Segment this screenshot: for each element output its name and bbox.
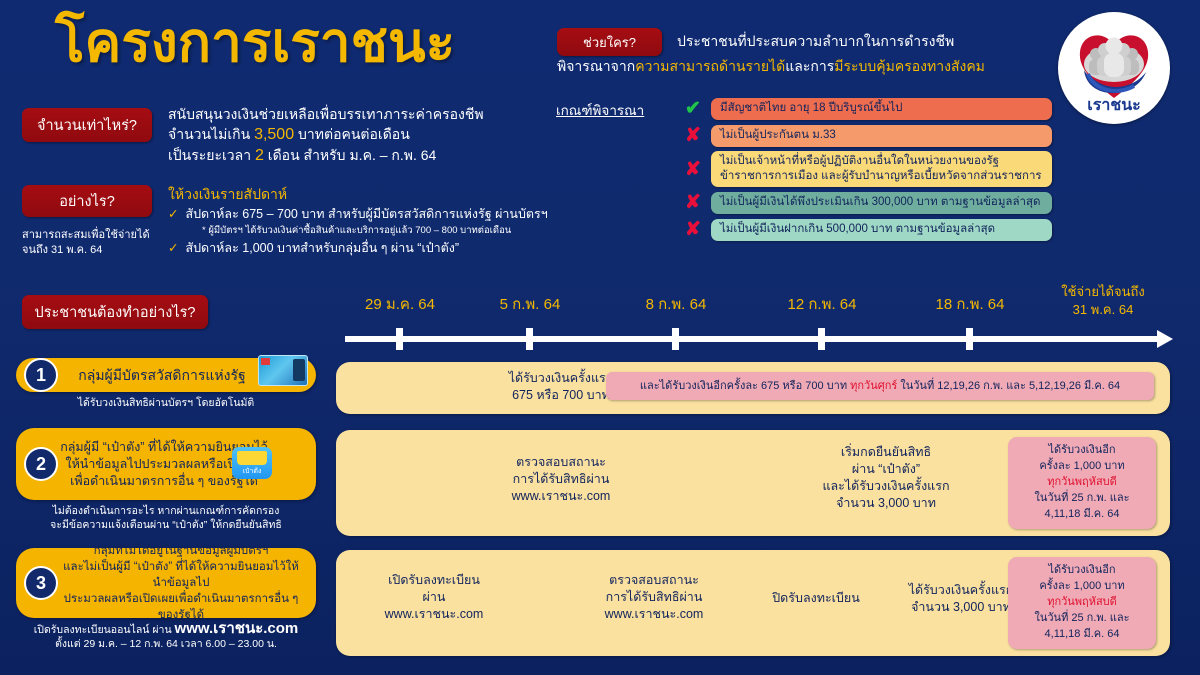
cross-icon: ✘ <box>682 158 704 181</box>
row-3-pink-line-1: ได้รับวงเงินอีก <box>1008 562 1156 578</box>
criteria-row-1: ✔ มีสัญชาติไทย อายุ 18 ปีบริบูรณ์ขึ้นไป <box>682 97 1052 120</box>
timeline-date-1: 29 ม.ค. 64 <box>325 292 475 316</box>
timeline-tick-3 <box>672 328 679 350</box>
row-3-cell-1-line-2: ผ่าน <box>344 589 524 606</box>
state-welfare-card-icon <box>258 355 308 386</box>
row-2-pink-line-4: ในวันที่ 25 ก.พ. และ <box>1008 490 1156 506</box>
timeline-date-4: 12 ก.พ. 64 <box>747 292 897 316</box>
timeline-axis <box>345 336 1165 342</box>
how-bullet-2: สัปดาห์ละ 1,000 บาทสำหรับกลุ่มอื่น ๆ ผ่า… <box>185 239 459 257</box>
group-3-card: กลุ่มที่ไม่ได้อยู่ในฐานข้อมูลผู้มีบัตรฯ … <box>16 548 316 618</box>
timeline-arrow-icon <box>1157 330 1173 348</box>
row-3-cell-2: ตรวจสอบสถานะ การได้รับสิทธิผ่าน www.เราช… <box>564 572 744 623</box>
amount-value: 3,500 <box>254 126 294 143</box>
group-3-subnote-line-2: ตั้งแต่ 29 ม.ค. – 12 ก.พ. 64 เวลา 6.00 –… <box>10 637 322 651</box>
timeline-tick-1 <box>396 328 403 350</box>
group-1-subnote: ได้รับวงเงินสิทธิผ่านบัตรฯ โดยอัตโนมัติ <box>16 396 316 410</box>
who-line2-highlight-1: ความสามารถด้านรายได้ <box>635 58 785 74</box>
row-2-cell-2-line-1: เริ่มกดยืนยันสิทธิ <box>776 444 996 461</box>
timeline-tick-4 <box>818 328 825 350</box>
how-bullet-2-row: ✓ สัปดาห์ละ 1,000 บาทสำหรับกลุ่มอื่น ๆ ผ… <box>168 239 568 257</box>
who-line-2: พิจารณาจากความสามารถด้านรายได้และการมีระ… <box>557 55 1097 77</box>
row-3-pink-line-2: ครั้งละ 1,000 บาท <box>1008 578 1156 594</box>
row-1-panel: ได้รับวงเงินครั้งแรก 675 หรือ 700 บาท แล… <box>336 362 1170 414</box>
row-3-pink-line-4: ในวันที่ 25 ก.พ. และ <box>1008 610 1156 626</box>
tag-how: อย่างไร? <box>22 185 152 217</box>
check-icon: ✓ <box>168 205 178 223</box>
row-3-pink-line-5: 4,11,18 มี.ค. 64 <box>1008 626 1156 642</box>
row-2-cell-2-line-2: ผ่าน “เป๋าตัง” <box>776 461 996 478</box>
amount-line2-post: บาทต่อคนต่อเดือน <box>298 126 410 142</box>
row-3-cell-2-line-1: ตรวจสอบสถานะ <box>564 572 744 589</box>
criteria-label: เกณฑ์พิจารณา <box>556 99 644 121</box>
group-3-subnote-line-1: เปิดรับลงทะเบียนออนไลน์ ผ่าน www.เราชนะ.… <box>10 622 322 637</box>
row-2-cell-1: ตรวจสอบสถานะ การได้รับสิทธิผ่าน www.เราช… <box>446 454 676 505</box>
row-1-pink-strip: และได้รับวงเงินอีกครั้งละ 675 หรือ 700 บ… <box>606 372 1154 400</box>
cross-icon: ✘ <box>682 124 704 147</box>
tag-how-much: จำนวนเท่าไหร่? <box>22 108 152 142</box>
how-bullet-1: สัปดาห์ละ 675 – 700 บาท สำหรับผู้มีบัตรส… <box>185 205 547 223</box>
row-2-pink-line-1: ได้รับวงเงินอีก <box>1008 442 1156 458</box>
timeline-end-line-1: ใช้จ่ายได้จนถึง <box>1038 283 1168 301</box>
row-1-strip-highlight: ทุกวันศุกร์ <box>850 380 897 392</box>
infographic-canvas: โครงการเราชนะ เราชนะ จำนวนเท่าไหร่? สนับ… <box>0 0 1200 675</box>
how-bullet-1-row: ✓ สัปดาห์ละ 675 – 700 บาท สำหรับผู้มีบัต… <box>168 205 568 223</box>
row-2-pink-highlight: ทุกวันพฤหัสบดี <box>1008 474 1156 490</box>
amount-line-3: เป็นระยะเวลา 2 เดือน สำหรับ ม.ค. – ก.พ. … <box>168 145 558 166</box>
amount-line3-post: เดือน สำหรับ ม.ค. – ก.พ. 64 <box>268 147 437 163</box>
row-3-cell-1-line-1: เปิดรับลงทะเบียน <box>344 572 524 589</box>
tag-who: ช่วยใคร? <box>557 28 662 56</box>
how-note-line-1: สามารถสะสมเพื่อใช้จ่ายได้ <box>22 228 172 243</box>
amount-line2-pre: จำนวนไม่เกิน <box>168 126 250 142</box>
row-3-cell-3: ปิดรับลงทะเบียน <box>736 590 896 607</box>
row-2-cell-2: เริ่มกดยืนยันสิทธิ ผ่าน “เป๋าตัง” และได้… <box>776 444 996 512</box>
who-line-1: ประชาชนที่ประสบความลำบากในการดำรงชีพ <box>677 30 1097 52</box>
group-3-title: กลุ่มที่ไม่ได้อยู่ในฐานข้อมูลผู้มีบัตรฯ … <box>60 543 306 623</box>
group-2-subnote: ไม่ต้องดำเนินการอะไร หากผ่านเกณฑ์การคัดก… <box>10 504 322 532</box>
criteria-text-5: ไม่เป็นผู้มีเงินฝากเกิน 500,000 บาท ตามฐ… <box>711 219 1052 241</box>
row-2-panel: ตรวจสอบสถานะ การได้รับสิทธิผ่าน www.เราช… <box>336 430 1170 536</box>
criteria-text-2: ไม่เป็นผู้ประกันตน ม.33 <box>711 125 1052 147</box>
timeline-date-3: 8 ก.พ. 64 <box>601 292 751 316</box>
row-2-cell-1-line-2: การได้รับสิทธิผ่าน <box>446 471 676 488</box>
group-3-subnote-pre: เปิดรับลงทะเบียนออนไลน์ ผ่าน <box>34 624 175 636</box>
amount-line-2: จำนวนไม่เกิน 3,500 บาทต่อคนต่อเดือน <box>168 124 558 145</box>
page-title: โครงการเราชนะ <box>55 14 455 72</box>
criteria-text-4: ไม่เป็นผู้มีเงินได้พึงประเมินเกิน 300,00… <box>711 192 1052 214</box>
timeline-date-2: 5 ก.พ. 64 <box>455 292 605 316</box>
timeline-tick-2 <box>526 328 533 350</box>
group-3-subnote: เปิดรับลงทะเบียนออนไลน์ ผ่าน www.เราชนะ.… <box>10 622 322 651</box>
who-line2-highlight-2: มีระบบคุ้มครองทางสังคม <box>834 58 985 74</box>
row-2-cell-2-line-4: จำนวน 3,000 บาท <box>776 495 996 512</box>
amount-line3-pre: เป็นระยะเวลา <box>168 147 251 163</box>
who-line2-mid: และการ <box>785 58 834 74</box>
timeline-end-line-2: 31 พ.ค. 64 <box>1038 301 1168 319</box>
criteria-text-3: ไม่เป็นเจ้าหน้าที่หรือผู้ปฏิบัติงานอื่นใ… <box>711 151 1052 187</box>
logo-label: เราชนะ <box>1058 93 1170 118</box>
timeline-end-label: ใช้จ่ายได้จนถึง 31 พ.ค. 64 <box>1038 283 1168 319</box>
row-3-cell-2-line-2: การได้รับสิทธิผ่าน <box>564 589 744 606</box>
duration-value: 2 <box>255 147 264 164</box>
row-3-panel: เปิดรับลงทะเบียน ผ่าน www.เราชนะ.com ตรว… <box>336 550 1170 656</box>
criteria-row-5: ✘ ไม่เป็นผู้มีเงินฝากเกิน 500,000 บาท ตา… <box>682 218 1052 241</box>
group-3-subnote-url[interactable]: www.เราชนะ.com <box>175 620 299 637</box>
amount-line-1: สนับสนุนวงเงินช่วยเหลือเพื่อบรรเทาภาระค่… <box>168 104 558 124</box>
check-icon: ✓ <box>168 239 178 257</box>
how-note: สามารถสะสมเพื่อใช้จ่ายได้ จนถึง 31 พ.ค. … <box>22 228 172 258</box>
row-2-cell-1-line-3: www.เราชนะ.com <box>446 488 676 505</box>
row-3-cell-1-line-3: www.เราชนะ.com <box>344 606 524 623</box>
group-1-number: 1 <box>24 358 58 392</box>
group-1-title: กลุ่มผู้มีบัตรสวัสดิการแห่งรัฐ <box>78 367 287 384</box>
tag-what-to-do: ประชาชนต้องทำอย่างไร? <box>22 295 208 329</box>
row-3-pink-box: ได้รับวงเงินอีก ครั้งละ 1,000 บาท ทุกวัน… <box>1008 557 1156 649</box>
check-icon: ✔ <box>682 97 704 120</box>
amount-block: สนับสนุนวงเงินช่วยเหลือเพื่อบรรเทาภาระค่… <box>168 104 558 166</box>
criteria-list: ✔ มีสัญชาติไทย อายุ 18 ปีบริบูรณ์ขึ้นไป … <box>682 97 1052 241</box>
row-2-pink-line-5: 4,11,18 มี.ค. 64 <box>1008 506 1156 522</box>
criteria-row-2: ✘ ไม่เป็นผู้ประกันตน ม.33 <box>682 124 1052 147</box>
paotang-app-icon: เป๋าตัง <box>232 447 272 479</box>
row-2-pink-box: ได้รับวงเงินอีก ครั้งละ 1,000 บาท ทุกวัน… <box>1008 437 1156 529</box>
row-3-pink-highlight: ทุกวันพฤหัสบดี <box>1008 594 1156 610</box>
row-1-strip-post: ในวันที่ 12,19,26 ก.พ. และ 5,12,19,26 มี… <box>897 380 1120 392</box>
row-3-cell-2-line-3: www.เราชนะ.com <box>564 606 744 623</box>
how-bullet-1-note: * ผู้มีบัตรฯ ได้รับวงเงินค่าซื้อสินค้าแล… <box>202 224 568 237</box>
group-2-number: 2 <box>24 447 58 481</box>
row-3-cell-1: เปิดรับลงทะเบียน ผ่าน www.เราชนะ.com <box>344 572 524 623</box>
timeline-tick-5 <box>966 328 973 350</box>
row-2-cell-2-line-3: และได้รับวงเงินครั้งแรก <box>776 478 996 495</box>
timeline-date-5: 18 ก.พ. 64 <box>895 292 1045 316</box>
how-note-line-2: จนถึง 31 พ.ค. 64 <box>22 243 172 258</box>
paotang-bag-shape <box>237 451 267 465</box>
row-2-pink-line-2: ครั้งละ 1,000 บาท <box>1008 458 1156 474</box>
row-1-strip-pre: และได้รับวงเงินอีกครั้งละ 675 หรือ 700 บ… <box>640 380 850 392</box>
group-3-number: 3 <box>24 566 58 600</box>
how-block: ให้วงเงินรายสัปดาห์ ✓ สัปดาห์ละ 675 – 70… <box>168 184 568 257</box>
cross-icon: ✘ <box>682 191 704 214</box>
row-3-cell-3-line-1: ปิดรับลงทะเบียน <box>736 590 896 607</box>
how-heading: ให้วงเงินรายสัปดาห์ <box>168 184 568 204</box>
criteria-text-1: มีสัญชาติไทย อายุ 18 ปีบริบูรณ์ขึ้นไป <box>711 98 1052 120</box>
who-line2-pre: พิจารณาจาก <box>557 58 635 74</box>
cross-icon: ✘ <box>682 218 704 241</box>
paotang-icon-label: เป๋าตัง <box>243 466 262 477</box>
row-2-cell-1-line-1: ตรวจสอบสถานะ <box>446 454 676 471</box>
criteria-row-3: ✘ ไม่เป็นเจ้าหน้าที่หรือผู้ปฏิบัติงานอื่… <box>682 151 1052 187</box>
criteria-row-4: ✘ ไม่เป็นผู้มีเงินได้พึงประเมินเกิน 300,… <box>682 191 1052 214</box>
